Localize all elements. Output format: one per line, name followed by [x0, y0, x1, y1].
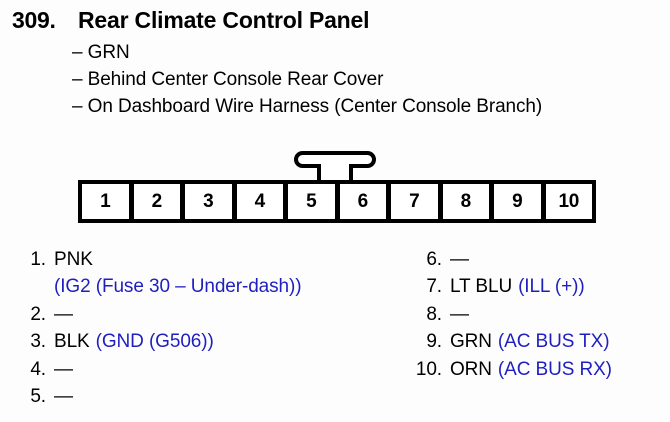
pin-index-4: 4. [16, 356, 54, 383]
pin-note-9: (AC BUS TX) [492, 328, 610, 355]
connector-pin-5: 5 [288, 184, 335, 219]
pin-note-3: (GND (G506)) [90, 328, 214, 355]
pin-row-10: 10. ORN (AC BUS RX) [412, 356, 667, 383]
pin-color-3: BLK [54, 328, 90, 355]
pin-index-5: 5. [16, 383, 54, 410]
page-header: 309. Rear Climate Control Panel [0, 6, 670, 36]
connector-pin-9: 9 [494, 184, 541, 219]
connector-pin-4: 4 [237, 184, 284, 219]
description-line-harness: – On Dashboard Wire Harness (Center Cons… [72, 93, 668, 120]
pin-index-2: 2. [16, 301, 54, 328]
pin-row-3: 3. BLK (GND (G506)) [16, 328, 396, 355]
description-line-wire-color: – GRN [72, 39, 668, 66]
pin-index-7: 7. [412, 273, 450, 300]
connector-pin-2: 2 [134, 184, 181, 219]
pin-color-6: — [450, 246, 469, 273]
pin-note-10: (AC BUS RX) [492, 356, 612, 383]
pin-color-10: ORN [450, 356, 492, 383]
pin-row-8: 8. — [412, 301, 667, 328]
connector-pin-row: 1 2 3 4 5 6 7 8 9 10 [78, 180, 596, 223]
pin-list-left: 1. PNK (IG2 (Fuse 30 – Under-dash)) 2. —… [16, 246, 396, 410]
entry-number: 309. [12, 6, 56, 34]
connector-pin-3: 3 [185, 184, 232, 219]
connector-pin-10: 10 [546, 184, 593, 219]
description-line-location: – Behind Center Console Rear Cover [72, 66, 668, 93]
pin-note-7: (ILL (+)) [512, 273, 585, 300]
pin-row-4: 4. — [16, 356, 396, 383]
pin-color-2: — [54, 301, 73, 328]
pin-list-right: 6. — 7. LT BLU (ILL (+)) 8. — 9. GRN (AC… [412, 246, 667, 383]
pin-color-8: — [450, 301, 469, 328]
pin-index-9: 9. [412, 328, 450, 355]
pin-index-3: 3. [16, 328, 54, 355]
pin-color-7: LT BLU [450, 273, 512, 300]
pin-color-9: GRN [450, 328, 492, 355]
pin-color-4: — [54, 356, 73, 383]
pin-color-1: PNK [54, 246, 93, 273]
connector-pinout-page: 309. Rear Climate Control Panel – GRN – … [0, 0, 670, 422]
pin-row-2: 2. — [16, 301, 396, 328]
connector-pin-6: 6 [340, 184, 387, 219]
pin-index-6: 6. [412, 246, 450, 273]
pin-row-5: 5. — [16, 383, 396, 410]
pin-row-9: 9. GRN (AC BUS TX) [412, 328, 667, 355]
connector-pin-8: 8 [443, 184, 490, 219]
locking-tab-icon [294, 151, 376, 182]
pin-row-7: 7. LT BLU (ILL (+)) [412, 273, 667, 300]
pin-note-1: (IG2 (Fuse 30 – Under-dash)) [16, 273, 396, 300]
pin-row-6: 6. — [412, 246, 667, 273]
pin-row-1: 1. PNK [16, 246, 396, 273]
connector-diagram: 1 2 3 4 5 6 7 8 9 10 [78, 151, 596, 223]
pin-index-8: 8. [412, 301, 450, 328]
connector-pin-7: 7 [391, 184, 438, 219]
pin-index-1: 1. [16, 246, 54, 273]
page-title: Rear Climate Control Panel [78, 6, 369, 34]
connector-pin-1: 1 [82, 184, 129, 219]
pin-color-5: — [54, 383, 73, 410]
pin-index-10: 10. [412, 356, 450, 383]
description-list: – GRN – Behind Center Console Rear Cover… [72, 39, 668, 120]
